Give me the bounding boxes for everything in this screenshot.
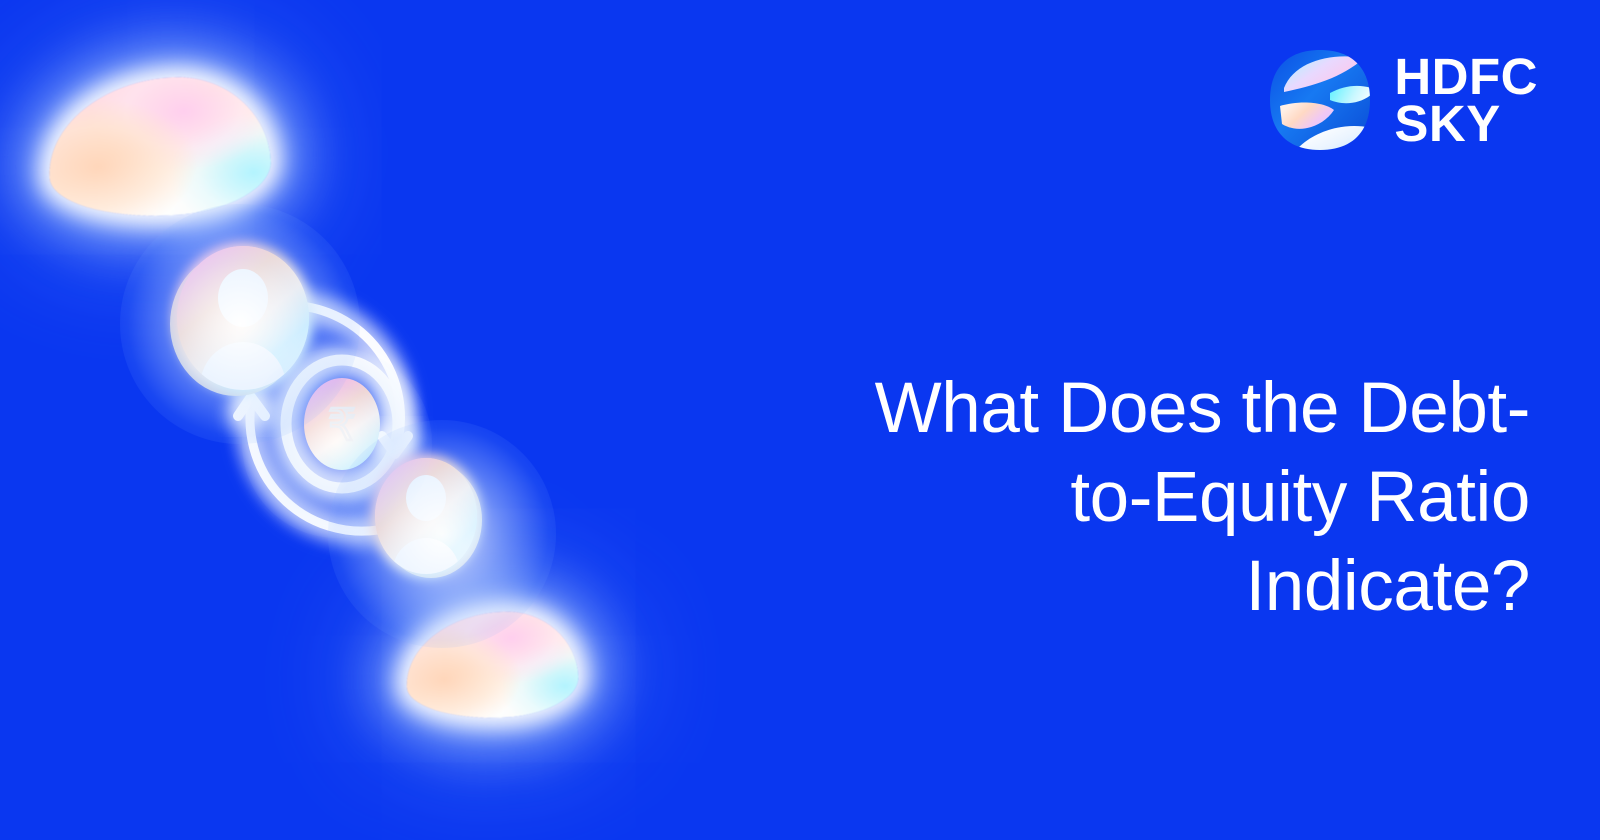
logo-line-hdfc: HDFC bbox=[1394, 53, 1538, 100]
iridescent-blob-top-left bbox=[45, 72, 274, 221]
rupee-coin: ₹ bbox=[286, 360, 398, 488]
blob-core bbox=[45, 72, 274, 221]
avatar-person-bottom-right bbox=[375, 458, 482, 610]
hero-banner: ₹ bbox=[0, 0, 1600, 840]
illustration-svg: ₹ bbox=[150, 230, 530, 610]
hdfc-sky-logo[interactable]: HDFC SKY bbox=[1268, 48, 1538, 152]
rupee-symbol: ₹ bbox=[328, 401, 356, 450]
page-title: What Does the Debt- to-Equity Ratio Indi… bbox=[550, 364, 1530, 632]
hdfc-sky-logo-mark bbox=[1268, 48, 1372, 152]
hdfc-sky-wordmark: HDFC SKY bbox=[1394, 53, 1538, 148]
logo-line-sky: SKY bbox=[1394, 100, 1538, 147]
money-transfer-illustration: ₹ bbox=[150, 230, 530, 610]
